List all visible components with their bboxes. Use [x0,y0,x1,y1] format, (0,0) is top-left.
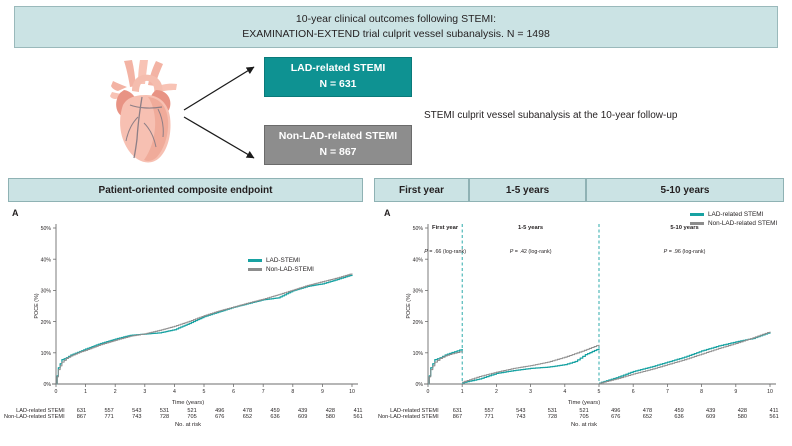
figure-root: 10-year clinical outcomes following STEM… [0,0,792,446]
legend-item-lad-left: LAD-STEMI [248,256,314,265]
figure-title-banner: 10-year clinical outcomes following STEM… [14,6,778,48]
panel-header-first-year-label: First year [399,185,444,196]
legend-swatch-nonlad-icon [248,268,262,271]
svg-text:8: 8 [700,389,703,395]
svg-text:6: 6 [632,389,635,395]
svg-text:POCE (%): POCE (%) [34,293,40,318]
risk-table-right: LAD-related STEMI63155754353152149647845… [378,408,790,428]
svg-text:0: 0 [55,389,58,395]
node-lad-title: LAD-related STEMI [291,61,386,77]
legend-right: LAD-related STEMI Non-LAD-related STEMI [690,210,777,228]
svg-text:20%: 20% [41,320,52,326]
banner-line-2: EXAMINATION-EXTEND trial culprit vessel … [242,27,550,42]
svg-text:0: 0 [427,389,430,395]
svg-text:9: 9 [321,389,324,395]
risk-row-label: Non-LAD-related STEMI [378,414,442,420]
svg-text:5: 5 [203,389,206,395]
risk-table-right-grid: LAD-related STEMI63155754353152149647845… [378,408,790,420]
panel-header-poce-label: Patient-oriented composite endpoint [99,185,273,196]
svg-text:50%: 50% [41,226,52,232]
node-lad-count: N = 631 [319,77,356,93]
svg-text:POCE (%): POCE (%) [406,293,412,318]
risk-table-left-grid: LAD-related STEMI63155754353152149647845… [4,408,372,420]
svg-text:40%: 40% [41,257,52,263]
svg-text:7: 7 [262,389,265,395]
svg-text:P = .66 (log-rank): P = .66 (log-rank) [424,249,466,255]
svg-text:2: 2 [495,389,498,395]
legend-item-nonlad-right: Non-LAD-related STEMI [690,219,777,228]
svg-text:First year: First year [432,225,459,231]
svg-text:20%: 20% [413,320,424,326]
legend-swatch-lad-icon [248,259,262,262]
legend-label-lad-right: LAD-related STEMI [708,211,763,218]
legend-item-lad-right: LAD-related STEMI [690,210,777,219]
svg-text:9: 9 [734,389,737,395]
svg-text:1: 1 [461,389,464,395]
svg-text:50%: 50% [413,226,424,232]
svg-text:3: 3 [529,389,532,395]
svg-text:P = .42 (log-rank): P = .42 (log-rank) [510,249,552,255]
panel-header-five-to-ten: 5-10 years [586,178,784,202]
node-non-lad-related-stemi: Non-LAD-related STEMI N = 867 [264,125,412,165]
x-axis-title-left: Time (years) [4,400,372,406]
panel-header-first-year: First year [374,178,469,202]
banner-line-1: 10-year clinical outcomes following STEM… [296,12,496,27]
svg-text:7: 7 [666,389,669,395]
svg-text:30%: 30% [41,289,52,295]
svg-text:4: 4 [173,389,176,395]
legend-swatch-lad-right-icon [690,213,704,216]
x-axis-title-right: Time (years) [378,400,790,406]
svg-text:40%: 40% [413,257,424,263]
svg-text:P = .96 (log-rank): P = .96 (log-rank) [664,249,706,255]
legend-label-nonlad-left: Non-LAD-STEMI [266,266,314,273]
heart-anatomy-icon [110,57,182,167]
svg-text:10%: 10% [413,351,424,357]
legend-swatch-nonlad-right-icon [690,222,704,225]
svg-text:2: 2 [114,389,117,395]
node-nonlad-count: N = 867 [319,145,356,161]
node-lad-related-stemi: LAD-related STEMI N = 631 [264,57,412,97]
svg-text:1-5 years: 1-5 years [518,225,543,231]
svg-text:5: 5 [598,389,601,395]
svg-text:1: 1 [84,389,87,395]
panel-header-poce: Patient-oriented composite endpoint [8,178,363,202]
panel-header-five-to-ten-label: 5-10 years [661,185,710,196]
landmark-kaplan-meier-plot-right: 0%10%20%30%40%50%012345678910POCE (%)Fir… [376,206,790,406]
svg-text:10%: 10% [41,351,52,357]
svg-text:10: 10 [349,389,355,395]
legend-item-nonlad-left: Non-LAD-STEMI [248,265,314,274]
risk-row-label: Non-LAD-related STEMI [4,414,68,420]
svg-text:10: 10 [767,389,773,395]
kaplan-meier-plot-left: 0%10%20%30%40%50%012345678910POCE (%) [4,206,372,406]
panel-header-one-to-five: 1-5 years [469,178,586,202]
subanalysis-note: STEMI culprit vessel subanalysis at the … [424,110,677,121]
svg-text:3: 3 [143,389,146,395]
legend-left: LAD-STEMI Non-LAD-STEMI [248,256,314,274]
node-nonlad-title: Non-LAD-related STEMI [279,129,397,145]
svg-text:30%: 30% [413,289,424,295]
risk-table-left-title: No. at risk [4,420,372,428]
svg-text:0%: 0% [44,382,52,388]
flow-arrows-icon [180,55,260,170]
panel-header-one-to-five-label: 1-5 years [506,185,549,196]
legend-label-nonlad-right: Non-LAD-related STEMI [708,220,777,227]
svg-text:4: 4 [563,389,566,395]
legend-label-lad-left: LAD-STEMI [266,257,300,264]
risk-table-left: LAD-related STEMI63155754353152149647845… [4,408,372,428]
svg-text:6: 6 [232,389,235,395]
svg-text:8: 8 [291,389,294,395]
risk-table-right-title: No. at risk [378,420,790,428]
svg-text:0%: 0% [416,382,424,388]
